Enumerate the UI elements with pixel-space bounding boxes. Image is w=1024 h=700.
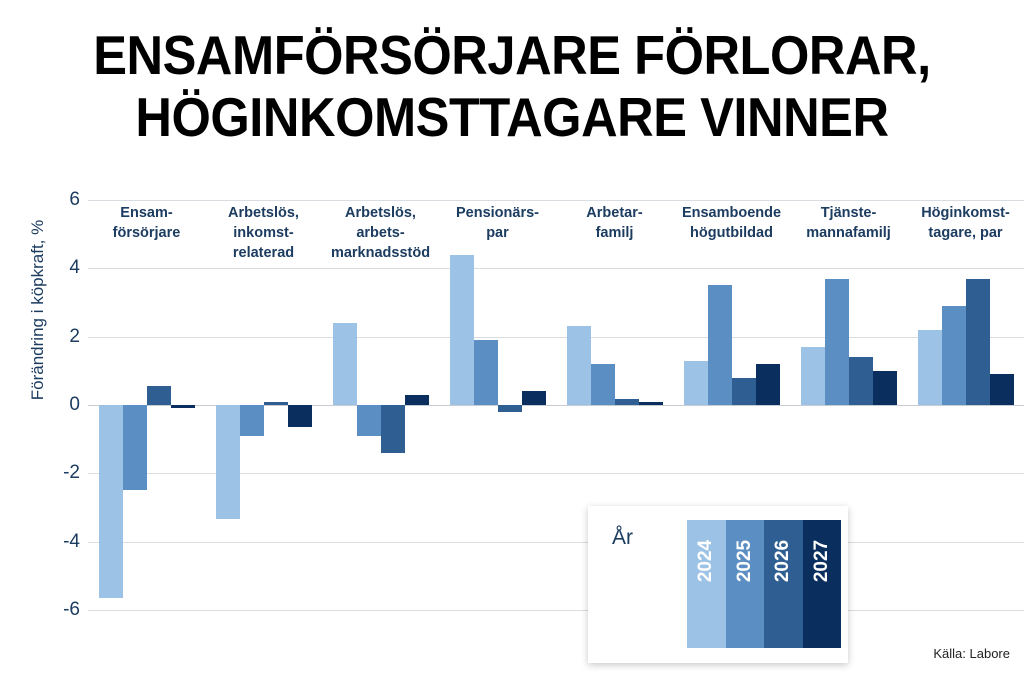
- legend-swatches: 2024202520262027: [687, 520, 841, 648]
- bar[interactable]: [522, 391, 546, 405]
- bar[interactable]: [990, 374, 1014, 405]
- y-axis-tick-label: -2: [40, 462, 80, 484]
- legend-swatch-label: 2024: [695, 540, 717, 582]
- bar[interactable]: [381, 405, 405, 453]
- bar[interactable]: [942, 306, 966, 405]
- legend-swatch[interactable]: 2024: [687, 520, 726, 648]
- source-note: Källa: Labore: [933, 646, 1010, 661]
- bar-cluster: [205, 0, 322, 700]
- bar-cluster: [907, 0, 1024, 700]
- bar[interactable]: [591, 364, 615, 405]
- bar[interactable]: [873, 371, 897, 405]
- bar[interactable]: [825, 279, 849, 405]
- bar[interactable]: [966, 279, 990, 405]
- chart-plot-area: Förändring i köpkraft, % 6420-2-4-6 Ensa…: [0, 0, 1024, 700]
- bar[interactable]: [264, 402, 288, 405]
- y-axis-tick-label: 6: [40, 189, 80, 211]
- bar[interactable]: [147, 386, 171, 405]
- legend-swatch[interactable]: 2025: [726, 520, 765, 648]
- legend-swatch-label: 2027: [811, 540, 833, 582]
- bar[interactable]: [567, 326, 591, 405]
- bar[interactable]: [684, 361, 708, 405]
- bar[interactable]: [615, 399, 639, 405]
- bar[interactable]: [732, 378, 756, 405]
- y-axis-tick-label: -6: [40, 599, 80, 621]
- bar-group: Pensionärs- par: [439, 0, 556, 700]
- legend-title: År: [612, 526, 633, 550]
- bar-group: Arbetslös, arbets- marknadsstöd: [322, 0, 439, 700]
- legend-swatch[interactable]: 2026: [764, 520, 803, 648]
- y-axis-tick-label: -4: [40, 531, 80, 553]
- bar[interactable]: [918, 330, 942, 405]
- bar-cluster: [322, 0, 439, 700]
- bar[interactable]: [474, 340, 498, 405]
- bar[interactable]: [498, 405, 522, 412]
- bar[interactable]: [171, 405, 195, 408]
- legend-swatch-label: 2025: [734, 540, 756, 582]
- bar[interactable]: [216, 405, 240, 519]
- bar-group: Höginkomst- tagare, par: [907, 0, 1024, 700]
- bar[interactable]: [756, 364, 780, 405]
- y-axis-tick-label: 2: [40, 326, 80, 348]
- bar[interactable]: [123, 405, 147, 490]
- legend-swatch[interactable]: 2027: [803, 520, 842, 648]
- bar[interactable]: [405, 395, 429, 405]
- bar[interactable]: [801, 347, 825, 405]
- bar-group: Ensam- försörjare: [88, 0, 205, 700]
- bar[interactable]: [357, 405, 381, 436]
- legend: År 2024202520262027: [588, 506, 848, 663]
- bar[interactable]: [240, 405, 264, 436]
- bar[interactable]: [450, 255, 474, 405]
- bar[interactable]: [288, 405, 312, 427]
- bar-group: Arbetslös, inkomst- relaterad: [205, 0, 322, 700]
- bar[interactable]: [708, 285, 732, 405]
- bar[interactable]: [849, 357, 873, 405]
- bar[interactable]: [333, 323, 357, 405]
- bar[interactable]: [99, 405, 123, 598]
- bar-cluster: [88, 0, 205, 700]
- y-axis-tick-label: 0: [40, 394, 80, 416]
- bar-cluster: [439, 0, 556, 700]
- bar[interactable]: [639, 402, 663, 405]
- legend-swatch-label: 2026: [772, 540, 794, 582]
- y-axis-tick-label: 4: [40, 257, 80, 279]
